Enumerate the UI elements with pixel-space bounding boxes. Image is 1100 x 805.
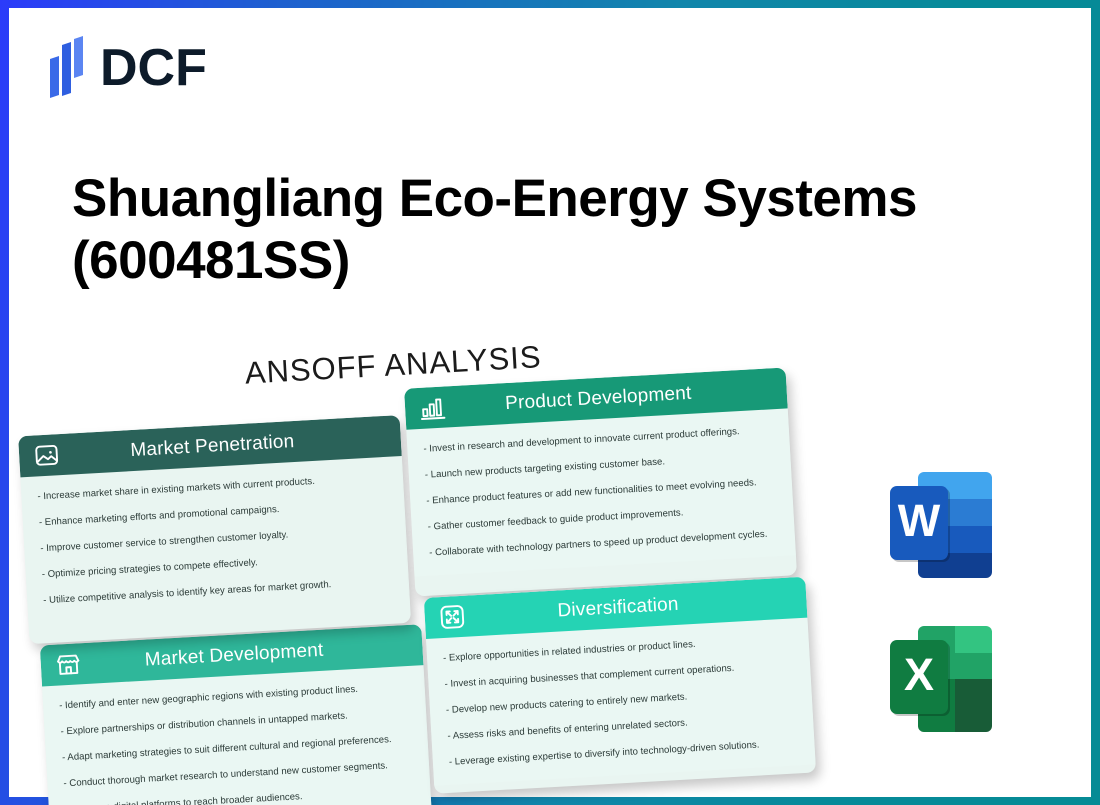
download-excel-button[interactable]: X [886, 620, 998, 738]
bar-chart-icon [418, 393, 446, 421]
quadrant-product-development[interactable]: Product Development - Invest in research… [404, 367, 797, 596]
svg-text:X: X [904, 649, 934, 700]
quadrant-item: - Develop new products catering to entir… [446, 684, 796, 717]
quadrant-item: - Improve customer service to strengthen… [40, 523, 390, 556]
svg-text:W: W [898, 495, 941, 546]
quadrant-item: - Conduct thorough market research to un… [63, 758, 413, 791]
quadrant-item: - Explore partnerships or distribution c… [60, 706, 410, 739]
image-picture-icon [32, 441, 60, 469]
quadrant-market-penetration[interactable]: Market Penetration - Increase market sha… [18, 415, 411, 644]
page-title-line-2: (600481SS) [72, 230, 1032, 292]
quadrant-item: - Invest in research and development to … [423, 423, 773, 456]
quadrant-body: - Identify and enter new geographic regi… [42, 665, 432, 805]
quadrant-title: Market Penetration [60, 425, 388, 465]
quadrant-body: - Increase market share in existing mark… [20, 456, 410, 624]
page-title: Shuangliang Eco-Energy Systems (600481SS… [72, 168, 1032, 292]
quadrant-title: Product Development [445, 378, 773, 418]
dcf-logo[interactable]: DCF [38, 35, 318, 105]
quadrant-market-development[interactable]: Market Development - Identify and enter … [40, 624, 432, 805]
download-word-button[interactable]: W [886, 466, 998, 584]
quadrant-item: - Leverage existing expertise to diversi… [449, 736, 799, 769]
quadrant-item: - Assess risks and benefits of entering … [447, 710, 797, 743]
quadrant-item: - Launch new products targeting existing… [425, 449, 775, 482]
expand-arrows-icon [438, 603, 466, 631]
dcf-bars-logo-icon [38, 35, 92, 99]
storefront-icon [54, 650, 82, 678]
quadrant-title: Market Development [81, 634, 409, 674]
page-title-line-1: Shuangliang Eco-Energy Systems [72, 168, 1032, 230]
quadrant-item: - Explore opportunities in related indus… [443, 632, 793, 665]
page-root: DCF Shuangliang Eco-Energy Systems (6004… [0, 0, 1100, 805]
quadrant-item: - Enhance marketing efforts and promotio… [39, 497, 389, 530]
dcf-wordmark: DCF [100, 39, 207, 97]
microsoft-word-icon: W [886, 466, 998, 584]
quadrant-item: - Collaborate with technology partners t… [429, 527, 779, 560]
quadrant-body: - Explore opportunities in related indus… [426, 618, 816, 786]
quadrant-body: - Invest in research and development to … [406, 408, 796, 576]
quadrant-item: - Invest in acquiring businesses that co… [444, 658, 794, 691]
quadrant-title: Diversification [465, 587, 793, 627]
quadrant-item: - Optimize pricing strategies to compete… [41, 549, 391, 582]
quadrant-item: - Identify and enter new geographic regi… [59, 680, 409, 713]
quadrant-item: - Utilize competitive analysis to identi… [43, 575, 393, 608]
microsoft-excel-icon: X [886, 620, 998, 738]
ansoff-matrix: ANSOFF ANALYSIS Market Penetration - Inc… [7, 330, 840, 805]
quadrant-item: - Enhance product features or add new fu… [426, 475, 776, 508]
quadrant-diversification[interactable]: Diversification - Explore opportunities … [424, 577, 816, 794]
quadrant-item: - Adapt marketing strategies to suit dif… [62, 732, 412, 765]
quadrant-item: - Increase market share in existing mark… [37, 471, 387, 504]
quadrant-item: - Gather customer feedback to guide prod… [427, 501, 777, 534]
